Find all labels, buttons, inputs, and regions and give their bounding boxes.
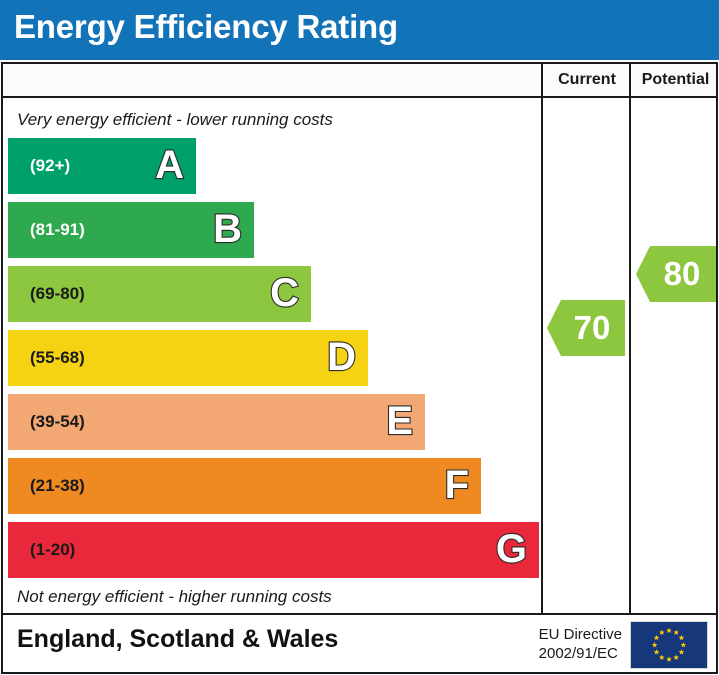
page-title: Energy Efficiency Rating — [14, 8, 398, 46]
band-row-d: (55-68)D — [8, 330, 368, 386]
column-header-row: Current Potential — [3, 64, 716, 98]
band-range-b: (81-91) — [30, 202, 85, 258]
column-header-potential: Potential — [631, 64, 719, 96]
footer-region-label: England, Scotland & Wales — [17, 625, 338, 654]
chart-frame: Current Potential Very energy efficient … — [1, 62, 718, 674]
divider-current-potential — [629, 64, 631, 615]
band-row-f: (21-38)F — [8, 458, 481, 514]
column-header-current: Current — [543, 64, 631, 96]
band-row-c: (69-80)C — [8, 266, 311, 322]
eu-flag-icon — [630, 621, 708, 669]
caption-inefficient: Not energy efficient - higher running co… — [17, 587, 332, 607]
band-row-b: (81-91)B — [8, 202, 254, 258]
band-letter-c: C — [270, 266, 299, 322]
band-range-f: (21-38) — [30, 458, 85, 514]
band-chart-area: Very energy efficient - lower running co… — [3, 98, 541, 613]
footer-directive-line1: EU Directive — [539, 625, 622, 644]
band-range-c: (69-80) — [30, 266, 85, 322]
band-row-e: (39-54)E — [8, 394, 425, 450]
band-range-a: (92+) — [30, 138, 70, 194]
band-letter-f: F — [445, 458, 469, 514]
potential-rating-value: 80 — [652, 255, 701, 293]
band-range-g: (1-20) — [30, 522, 75, 578]
current-rating-value: 70 — [562, 309, 611, 347]
band-row-g: (1-20)G — [8, 522, 539, 578]
band-range-d: (55-68) — [30, 330, 85, 386]
current-rating-marker: 70 — [547, 300, 625, 356]
energy-efficiency-rating-chart: Energy Efficiency Rating Current Potenti… — [0, 0, 719, 675]
band-letter-d: D — [327, 330, 356, 386]
footer: England, Scotland & Wales EU Directive 2… — [3, 615, 716, 674]
title-bar: Energy Efficiency Rating — [0, 0, 719, 60]
band-list: (92+)A(81-91)B(69-80)C(55-68)D(39-54)E(2… — [8, 138, 541, 586]
band-letter-g: G — [496, 522, 527, 578]
band-letter-a: A — [155, 138, 184, 194]
band-row-a: (92+)A — [8, 138, 196, 194]
footer-directive-line2: 2002/91/EC — [539, 644, 622, 663]
caption-efficient: Very energy efficient - lower running co… — [17, 110, 333, 130]
band-range-e: (39-54) — [30, 394, 85, 450]
potential-rating-marker: 80 — [636, 246, 716, 302]
band-letter-b: B — [213, 202, 242, 258]
footer-directive: EU Directive 2002/91/EC — [539, 625, 622, 663]
divider-chart-current — [541, 64, 543, 615]
band-letter-e: E — [386, 394, 413, 450]
